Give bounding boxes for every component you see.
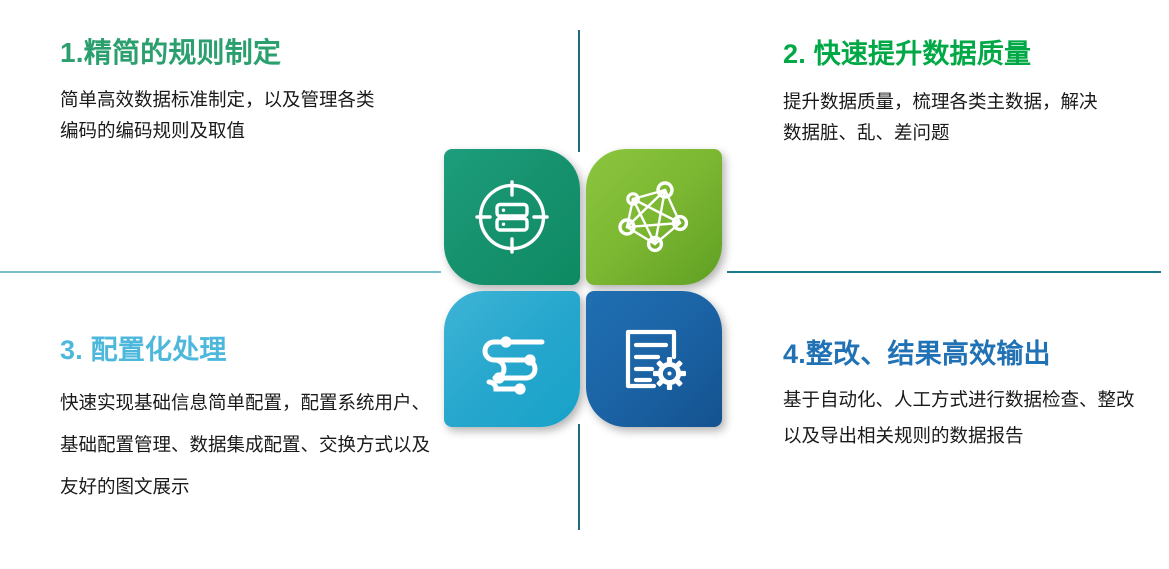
quadrant-quality: 2. 快速提升数据质量 提升数据质量，梳理各类主数据，解决数据脏、乱、差问题 xyxy=(783,38,1113,148)
infographic-canvas: 1.精简的规则制定 简单高效数据标准制定，以及管理各类编码的编码规则及取值 2.… xyxy=(0,0,1169,569)
divider-vertical-top xyxy=(578,30,580,152)
divider-horizontal-right xyxy=(727,271,1161,273)
quadrant-config-body: 快速实现基础信息简单配置，配置系统用户、基础配置管理、数据集成配置、交换方式以及… xyxy=(60,382,440,508)
quadrant-quality-body: 提升数据质量，梳理各类主数据，解决数据脏、乱、差问题 xyxy=(783,86,1113,148)
target-database-icon xyxy=(472,177,552,257)
tile-config[interactable] xyxy=(444,291,580,427)
quadrant-config-title: 3. 配置化处理 xyxy=(60,334,440,366)
quadrant-standards-body: 简单高效数据标准制定，以及管理各类编码的编码规则及取值 xyxy=(60,84,390,146)
quadrant-quality-title: 2. 快速提升数据质量 xyxy=(783,38,1113,70)
center-icon-cluster xyxy=(444,149,724,429)
network-graph-icon xyxy=(614,177,694,257)
tile-report[interactable] xyxy=(586,291,722,427)
divider-vertical-bottom xyxy=(578,424,580,530)
quadrant-report-body: 基于自动化、人工方式进行数据检查、整改以及导出相关规则的数据报告 xyxy=(783,382,1143,454)
quadrant-standards-title: 1.精简的规则制定 xyxy=(60,36,390,70)
quadrant-report-title: 4.整改、结果高效输出 xyxy=(783,338,1143,370)
workflow-path-icon xyxy=(472,319,552,399)
divider-horizontal-left xyxy=(0,271,441,273)
quadrant-report: 4.整改、结果高效输出 基于自动化、人工方式进行数据检查、整改以及导出相关规则的… xyxy=(783,338,1143,454)
document-gear-icon xyxy=(614,319,694,399)
tile-quality[interactable] xyxy=(586,149,722,285)
quadrant-config: 3. 配置化处理 快速实现基础信息简单配置，配置系统用户、基础配置管理、数据集成… xyxy=(60,334,440,508)
tile-standards[interactable] xyxy=(444,149,580,285)
quadrant-standards: 1.精简的规则制定 简单高效数据标准制定，以及管理各类编码的编码规则及取值 xyxy=(60,36,390,146)
